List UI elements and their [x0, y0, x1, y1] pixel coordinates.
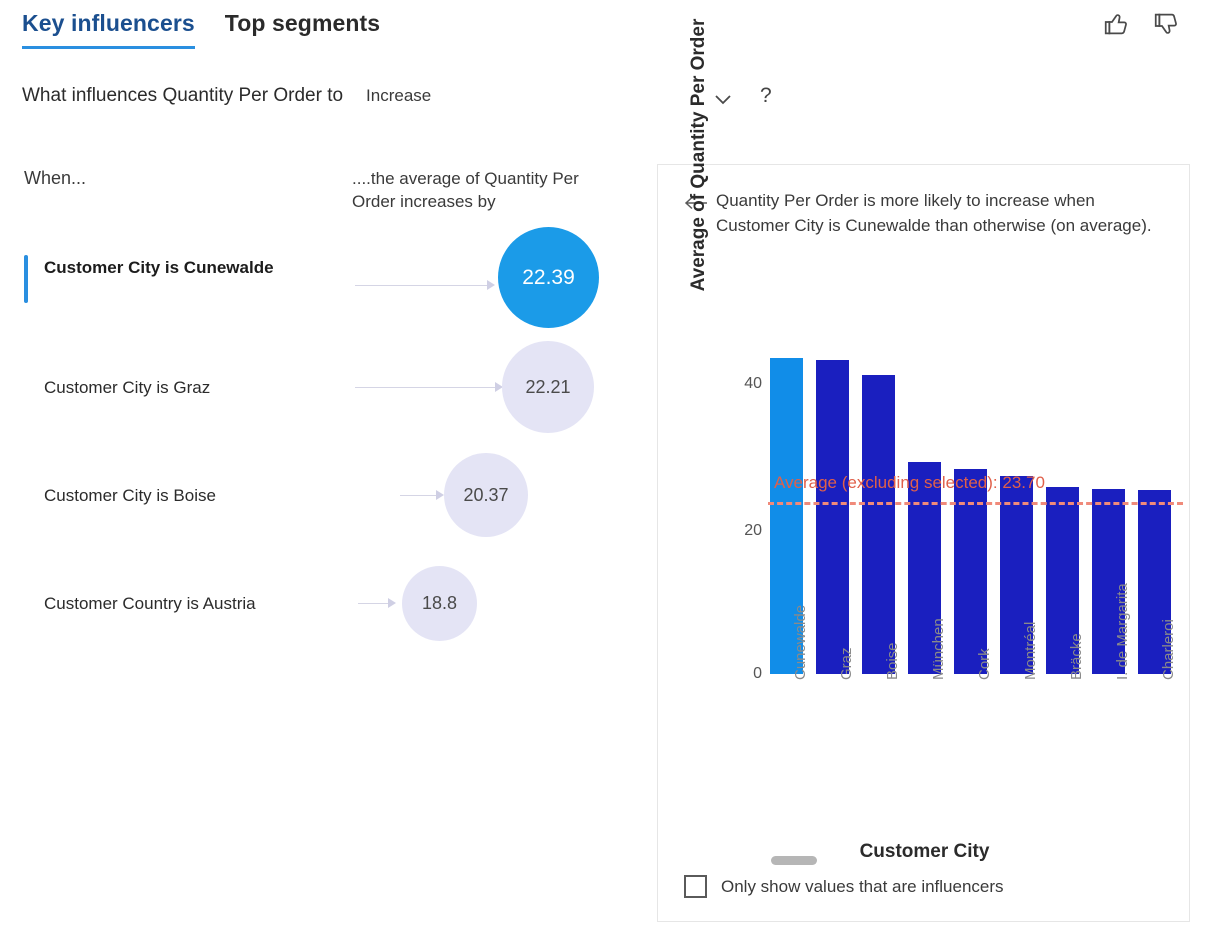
thumbs-up-icon[interactable] [1099, 8, 1133, 40]
thumbs-down-icon[interactable] [1149, 8, 1183, 40]
x-label-cork: Cork [976, 648, 993, 680]
x-label-montreal: Montréal [1022, 622, 1039, 680]
checkbox-label: Only show values that are influencers [721, 877, 1004, 897]
tab-key-influencers[interactable]: Key influencers [22, 10, 195, 49]
connector-arrow [436, 490, 444, 500]
connector-arrow [388, 598, 396, 608]
bar-chart: Average of Quantity Per Order 40 20 0 Av… [658, 165, 1191, 923]
influencer-row-boise[interactable]: Customer City is Boise 20.37 [0, 441, 640, 549]
checkbox-box[interactable] [684, 875, 707, 898]
bar-graz[interactable] [816, 360, 849, 674]
selection-accent-bar [24, 255, 28, 303]
key-influencers-visual: Key influencers Top segments What influe… [0, 0, 1205, 943]
bar-boise[interactable] [862, 375, 895, 674]
tab-bar: Key influencers Top segments [22, 10, 380, 49]
x-label-charleroi: Charleroi [1160, 619, 1177, 680]
connector-arrow [487, 280, 495, 290]
influencer-label: Customer City is Cunewalde [44, 257, 344, 280]
influencer-row-graz[interactable]: Customer City is Graz 22.21 [0, 333, 640, 441]
x-label-bracke: Bräcke [1068, 633, 1085, 680]
question-mark-icon[interactable]: ? [760, 84, 772, 108]
influencer-bubble[interactable]: 20.37 [444, 453, 528, 537]
influencer-row-austria[interactable]: Customer Country is Austria 18.8 [0, 549, 640, 657]
influencer-bubble[interactable]: 18.8 [402, 566, 477, 641]
x-label-i-de-margarita: I. de Margarita [1114, 583, 1131, 680]
influencer-bubble[interactable]: 22.39 [498, 227, 599, 328]
y-tick-0: 0 [658, 665, 762, 683]
x-label-munchen: München [930, 618, 947, 680]
column-header-average: ....the average of Quantity Per Order in… [352, 168, 617, 214]
scrollbar-track[interactable] [688, 855, 1158, 865]
scrollbar-thumb[interactable] [771, 856, 817, 865]
x-label-boise: Boise [884, 642, 901, 680]
influencer-label: Customer City is Boise [44, 485, 344, 508]
influencer-list: Customer City is Cunewalde 22.39 Custome… [0, 225, 640, 657]
question-row: What influences Quantity Per Order to In… [22, 85, 431, 107]
influencer-label: Customer Country is Austria [44, 593, 344, 616]
connector-line [358, 603, 390, 604]
x-label-cunewalde: Cunewalde [792, 605, 809, 680]
y-axis-title: Average of Quantity Per Order [688, 0, 710, 320]
influencer-row-cunewalde[interactable]: Customer City is Cunewalde 22.39 [0, 225, 640, 333]
y-tick-20: 20 [658, 522, 762, 540]
question-text: What influences Quantity Per Order to [22, 85, 343, 107]
tab-top-segments[interactable]: Top segments [225, 10, 380, 49]
bar-cork[interactable] [954, 469, 987, 674]
question-value-dropdown[interactable]: Increase [366, 86, 431, 106]
average-reference-label: Average (excluding selected): 23.70 [774, 473, 1045, 493]
y-tick-40: 40 [658, 375, 762, 393]
connector-line [400, 495, 438, 496]
x-label-graz: Graz [838, 647, 855, 680]
detail-panel: Quantity Per Order is more likely to inc… [657, 164, 1190, 922]
only-influencers-checkbox[interactable]: Only show values that are influencers [684, 875, 1004, 898]
column-header-when: When... [24, 168, 86, 189]
influencer-label: Customer City is Graz [44, 377, 344, 400]
average-reference-line [768, 502, 1183, 505]
feedback-group [1099, 8, 1183, 40]
connector-line [355, 387, 497, 388]
chevron-down-icon[interactable] [705, 86, 741, 112]
connector-line [355, 285, 490, 286]
influencer-bubble[interactable]: 22.21 [502, 341, 594, 433]
